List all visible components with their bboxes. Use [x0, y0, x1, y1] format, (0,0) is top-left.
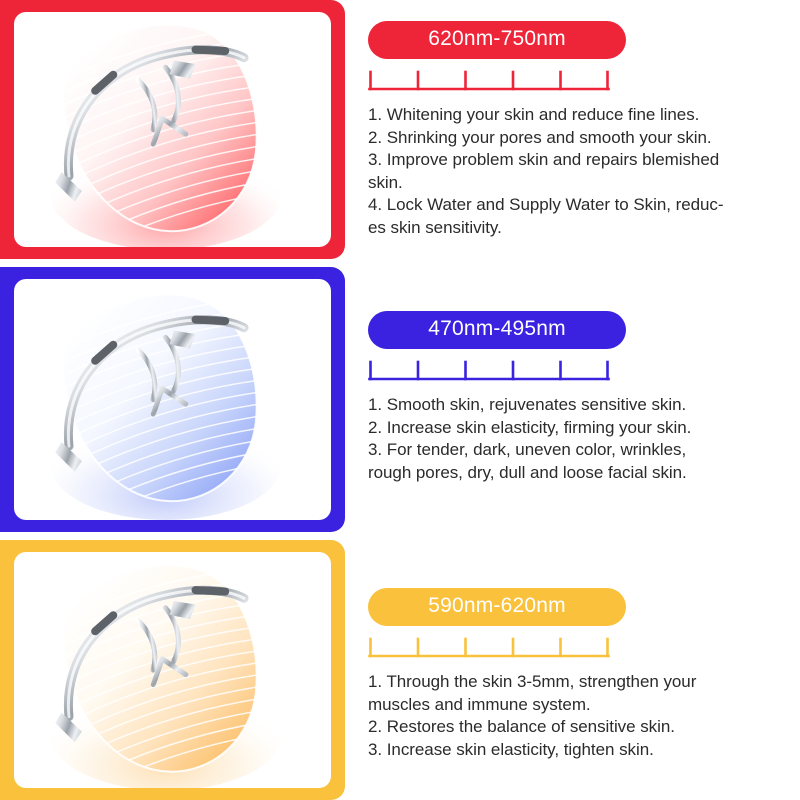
product-photo-frame [0, 540, 345, 800]
product-photo-frame [0, 267, 345, 532]
led-face-mask-icon [14, 12, 331, 247]
wavelength-info-amber-light: 590nm-620nm 1. Through the skin 3-5mm, s [368, 540, 792, 800]
led-face-mask-icon [14, 279, 331, 520]
benefits-list: 1. Smooth skin, rejuvenates sensitive sk… [368, 394, 782, 484]
wavelength-band-blue-light: 470nm-495nm 1. Smooth skin, rejuvenates [0, 267, 800, 532]
product-photo [14, 279, 331, 520]
benefits-list: 1. Through the skin 3-5mm, strengthen yo… [368, 671, 782, 761]
wavelength-info-red-light: 620nm-750nm 1. Whitening your skin and r [368, 0, 792, 259]
wavelength-scale-ruler [368, 358, 610, 382]
product-photo [14, 12, 331, 247]
benefit-line: 3. For tender, dark, uneven color, wrink… [368, 439, 782, 462]
benefit-line: muscles and immune system. [368, 694, 782, 717]
benefit-line: 1. Smooth skin, rejuvenates sensitive sk… [368, 394, 782, 417]
benefit-line: skin. [368, 172, 782, 195]
wavelength-badge: 470nm-495nm [368, 311, 626, 349]
wavelength-scale-ruler [368, 68, 610, 92]
benefit-line: 1. Through the skin 3-5mm, strengthen yo… [368, 671, 782, 694]
benefit-line: rough pores, dry, dull and loose facial … [368, 462, 782, 485]
benefit-line: 2. Increase skin elasticity, firming you… [368, 417, 782, 440]
wavelength-badge: 590nm-620nm [368, 588, 626, 626]
benefits-list: 1. Whitening your skin and reduce fine l… [368, 104, 782, 239]
benefit-line: 2. Shrinking your pores and smooth your … [368, 127, 782, 150]
wavelength-info-blue-light: 470nm-495nm 1. Smooth skin, rejuvenates [368, 267, 792, 532]
wavelength-band-amber-light: 590nm-620nm 1. Through the skin 3-5mm, s [0, 540, 800, 800]
wavelength-scale-ruler [368, 635, 610, 659]
led-face-mask-icon [14, 552, 331, 788]
infographic-page: 620nm-750nm 1. Whitening your skin and r [0, 0, 800, 800]
wavelength-badge: 620nm-750nm [368, 21, 626, 59]
product-photo [14, 552, 331, 788]
wavelength-band-red-light: 620nm-750nm 1. Whitening your skin and r [0, 0, 800, 259]
benefit-line: 3. Improve problem skin and repairs blem… [368, 149, 782, 172]
product-photo-frame [0, 0, 345, 259]
benefit-line: 2. Restores the balance of sensitive ski… [368, 716, 782, 739]
benefit-line: 3. Increase skin elasticity, tighten ski… [368, 739, 782, 762]
benefit-line: es skin sensitivity. [368, 217, 782, 240]
benefit-line: 1. Whitening your skin and reduce fine l… [368, 104, 782, 127]
benefit-line: 4. Lock Water and Supply Water to Skin, … [368, 194, 782, 217]
